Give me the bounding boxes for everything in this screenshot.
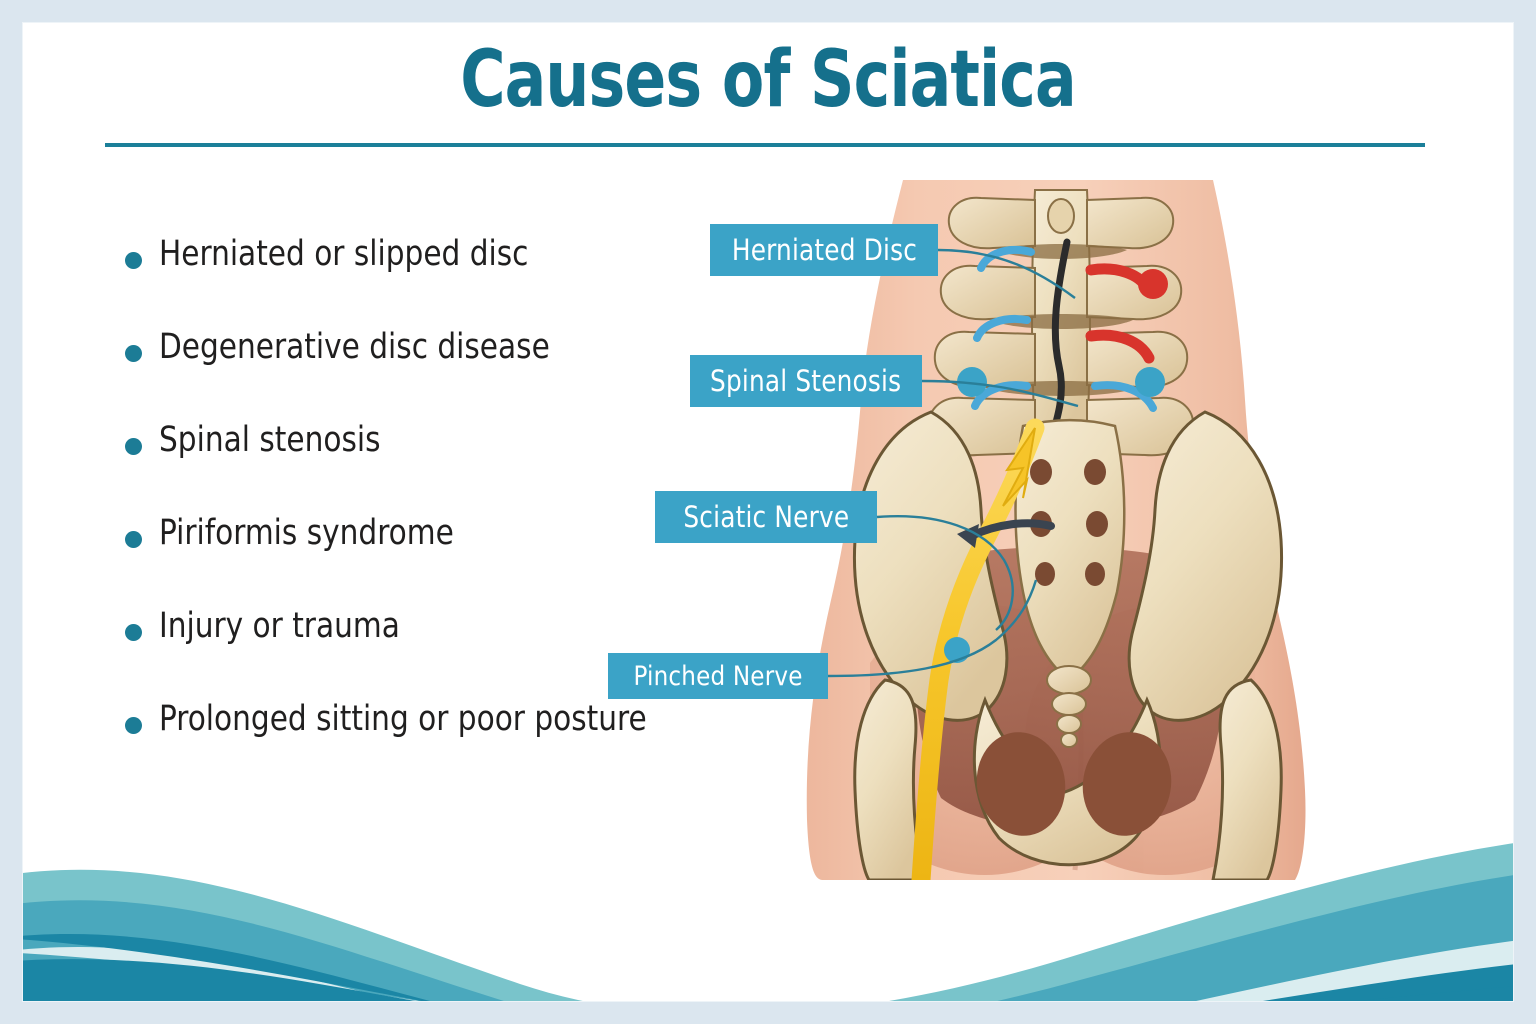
callout-herniated-disc[interactable]: Herniated Disc	[710, 224, 938, 276]
bullet-dot-icon	[125, 345, 142, 362]
title-divider	[105, 143, 1425, 147]
bullet-dot-icon	[125, 717, 142, 734]
callout-label: Pinched Nerve	[633, 661, 802, 692]
pinched-nerve-marker	[944, 637, 970, 663]
decorative-wave	[0, 834, 1536, 1024]
page-title: Causes of Sciatica	[92, 40, 1444, 121]
callout-label: Sciatic Nerve	[683, 500, 849, 534]
list-item: Prolonged sitting or poor posture	[125, 700, 765, 793]
list-item: Degenerative disc disease	[125, 328, 765, 421]
callout-sciatic-nerve[interactable]: Sciatic Nerve	[655, 491, 877, 543]
bullet-dot-icon	[125, 531, 142, 548]
stenosis-marker-right	[1135, 367, 1165, 397]
bullet-dot-icon	[125, 438, 142, 455]
callout-pinched-nerve[interactable]: Pinched Nerve	[608, 653, 828, 699]
list-item: Herniated or slipped disc	[125, 235, 765, 328]
callout-label: Herniated Disc	[731, 233, 916, 267]
list-item-label: Injury or trauma	[159, 607, 400, 646]
callout-label: Spinal Stenosis	[710, 364, 901, 398]
herniation-marker	[1138, 269, 1168, 299]
list-item-label: Piriformis syndrome	[159, 514, 454, 553]
callout-spinal-stenosis[interactable]: Spinal Stenosis	[690, 355, 922, 407]
list-item-label: Spinal stenosis	[159, 421, 381, 460]
slide: Herniated Disc Spinal Stenosis Sciatic N…	[0, 0, 1536, 1024]
stenosis-marker-left	[957, 367, 987, 397]
list-item-label: Degenerative disc disease	[159, 328, 550, 367]
bullet-dot-icon	[125, 624, 142, 641]
list-item-label: Prolonged sitting or poor posture	[159, 700, 647, 739]
bullet-dot-icon	[125, 252, 142, 269]
list-item-label: Herniated or slipped disc	[159, 235, 528, 274]
